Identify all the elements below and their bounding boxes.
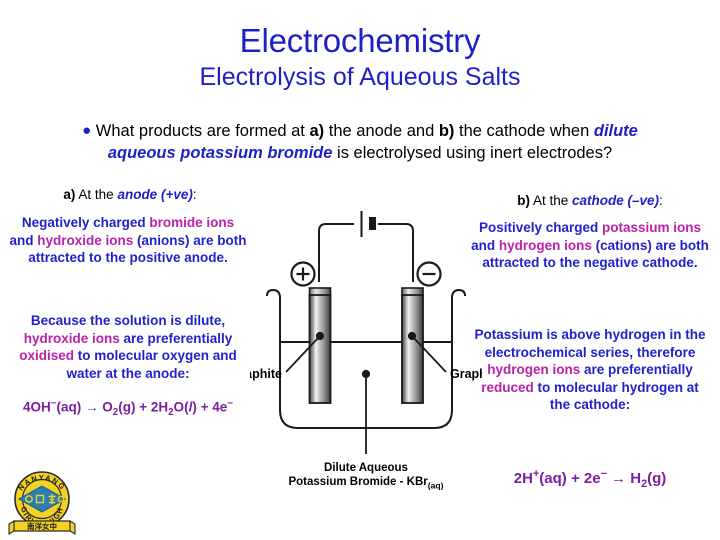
text-run-3: reduced <box>481 380 534 395</box>
text-run-4: to molecular hydrogen at the cathode: <box>534 380 699 413</box>
cathode-heading-emphasis: cathode (–ve) <box>572 193 659 208</box>
page-subtitle: Electrolysis of Aqueous Salts <box>0 62 720 92</box>
cathode-paragraph-1: Positively charged potassium ions and hy… <box>470 219 710 272</box>
text-run-0: Potassium is above hydrogen in the elect… <box>474 327 705 360</box>
logo-banner: 南洋女中 <box>9 521 75 534</box>
anode-heading-colon: : <box>193 187 197 202</box>
school-logo: NANYANG GIRLS' HIGH 南洋女中 <box>6 466 78 536</box>
anode-heading-emphasis: anode (+ve) <box>117 187 192 202</box>
text-run-1: hydroxide ions <box>24 331 120 346</box>
anode-paragraph-1: Negatively charged bromide ions and hydr… <box>8 214 248 267</box>
text-run-3: hydrogen ions <box>499 238 592 253</box>
text-run-2: are preferentially <box>580 362 693 377</box>
text-run-1: potassium ions <box>602 220 701 235</box>
cathode-heading-text: At the <box>530 193 572 208</box>
text-run-3: hydroxide ions <box>37 233 133 248</box>
text-run-0: Positively charged <box>479 220 602 235</box>
cathode-equation: 2H+(aq) + 2e− → H2(g) <box>470 468 710 490</box>
slide-canvas: Electrochemistry Electrolysis of Aqueous… <box>0 0 720 540</box>
text-run-4: to molecular oxygen and water at the ano… <box>66 348 236 381</box>
diagram-caption: Dilute Aqueous Potassium Bromide - KBr(a… <box>250 462 482 492</box>
text-run-2: are preferentially <box>120 331 233 346</box>
text-run-2: and <box>9 233 37 248</box>
caption-line-1: Dilute Aqueous <box>324 462 408 474</box>
cathode-heading-colon: : <box>659 193 663 208</box>
logo-banner-text: 南洋女中 <box>27 521 57 531</box>
text-run-0: Negatively charged <box>22 215 150 230</box>
text-run-3: oxidised <box>19 348 74 363</box>
cathode-heading-label: b) <box>517 193 530 208</box>
circuit-wire <box>319 224 413 282</box>
text-run-1: bromide ions <box>149 215 234 230</box>
question-text: ● What products are formed at a) the ano… <box>60 120 660 164</box>
cathode-paragraph-2: Potassium is above hydrogen in the elect… <box>470 326 710 414</box>
battery-icon <box>361 211 377 237</box>
negative-terminal-icon <box>418 263 441 286</box>
question-label-a: a) <box>309 122 324 140</box>
question-part-3: the cathode when <box>454 122 593 140</box>
cathode-electrode-label: Graphite <box>450 367 482 381</box>
caption-line-2: Potassium Bromide - KBr <box>288 476 427 488</box>
question-part-1: What products are formed at <box>96 122 310 140</box>
positive-terminal-icon <box>292 263 315 286</box>
question-part-4: is electrolysed using inert electrodes? <box>332 144 612 162</box>
anode-electrode-label: Graphite <box>250 367 282 381</box>
text-run-1: hydrogen ions <box>487 362 580 377</box>
anode-equation: 4OH−(aq) → O2(g) + 2H2O(l) + 4e− <box>8 398 248 418</box>
cathode-heading: b) At the cathode (–ve): <box>470 192 710 209</box>
anode-paragraph-2: Because the solution is dilute, hydroxid… <box>8 312 248 382</box>
caption-subscript: (aq) <box>428 480 444 490</box>
page-title: Electrochemistry <box>0 22 720 60</box>
anode-electrode <box>310 288 331 403</box>
anode-heading-label: a) <box>63 187 75 202</box>
question-label-b: b) <box>439 122 455 140</box>
question-part-2: the anode and <box>324 122 439 140</box>
anode-heading: a) At the anode (+ve): <box>10 186 250 203</box>
text-run-0: Because the solution is dilute, <box>31 313 225 328</box>
bullet-icon: ● <box>82 122 91 139</box>
electrolysis-cell-diagram: Graphite Graphite <box>250 196 482 456</box>
anode-heading-text: At the <box>75 187 117 202</box>
